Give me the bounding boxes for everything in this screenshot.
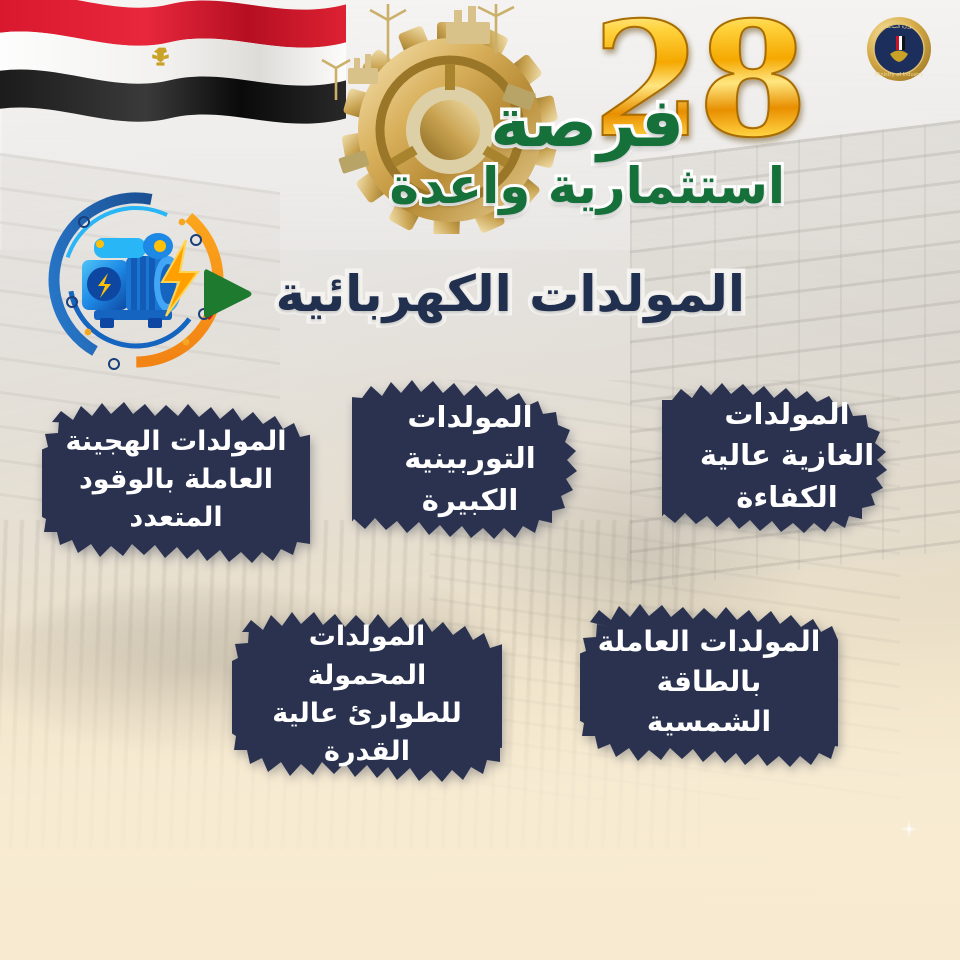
- card-label: المولدات العاملة بالطاقة الشمسية: [580, 622, 838, 741]
- card-label: المولدات الغازية عالية الكفاءة: [662, 394, 912, 518]
- egypt-flag-icon: [0, 0, 346, 184]
- card-large-turbine-generators[interactable]: المولدات التوربينية الكبيرة: [352, 368, 588, 550]
- headline-line-2: استثمارية واعدة: [390, 161, 785, 211]
- card-solar-powered-generators[interactable]: المولدات العاملة بالطاقة الشمسية: [580, 592, 838, 772]
- headline-block: فرصة استثمارية واعدة: [390, 92, 785, 211]
- infographic-poster: 28 فرصة استثمارية واعدة وزارة الصن: [0, 0, 960, 960]
- play-arrow-icon: [188, 258, 260, 330]
- seal-top-label: وزارة الصناعة: [886, 25, 911, 30]
- sparkle-icon: [896, 816, 922, 842]
- card-hybrid-generators[interactable]: المولدات الهجينة العاملة بالوقود المتعدد: [42, 392, 310, 568]
- card-label: المولدات التوربينية الكبيرة: [352, 397, 588, 521]
- seal-bottom-label: Ministry of Industry: [875, 72, 923, 78]
- card-portable-emergency-generators[interactable]: المولدات المحمولة للطوارئ عالية القدرة: [232, 600, 502, 790]
- card-high-efficiency-gas-generators[interactable]: المولدات الغازية عالية الكفاءة: [662, 372, 912, 540]
- headline-line-1: فرصة: [390, 92, 785, 157]
- subtitle-row: المولدات الكهربائية: [188, 258, 745, 330]
- ministry-seal-icon: وزارة الصناعة Ministry of Industry: [866, 16, 932, 82]
- card-label: المولدات الهجينة العاملة بالوقود المتعدد: [42, 423, 310, 538]
- card-label: المولدات المحمولة للطوارئ عالية القدرة: [232, 618, 502, 771]
- page-title: المولدات الكهربائية: [276, 265, 745, 323]
